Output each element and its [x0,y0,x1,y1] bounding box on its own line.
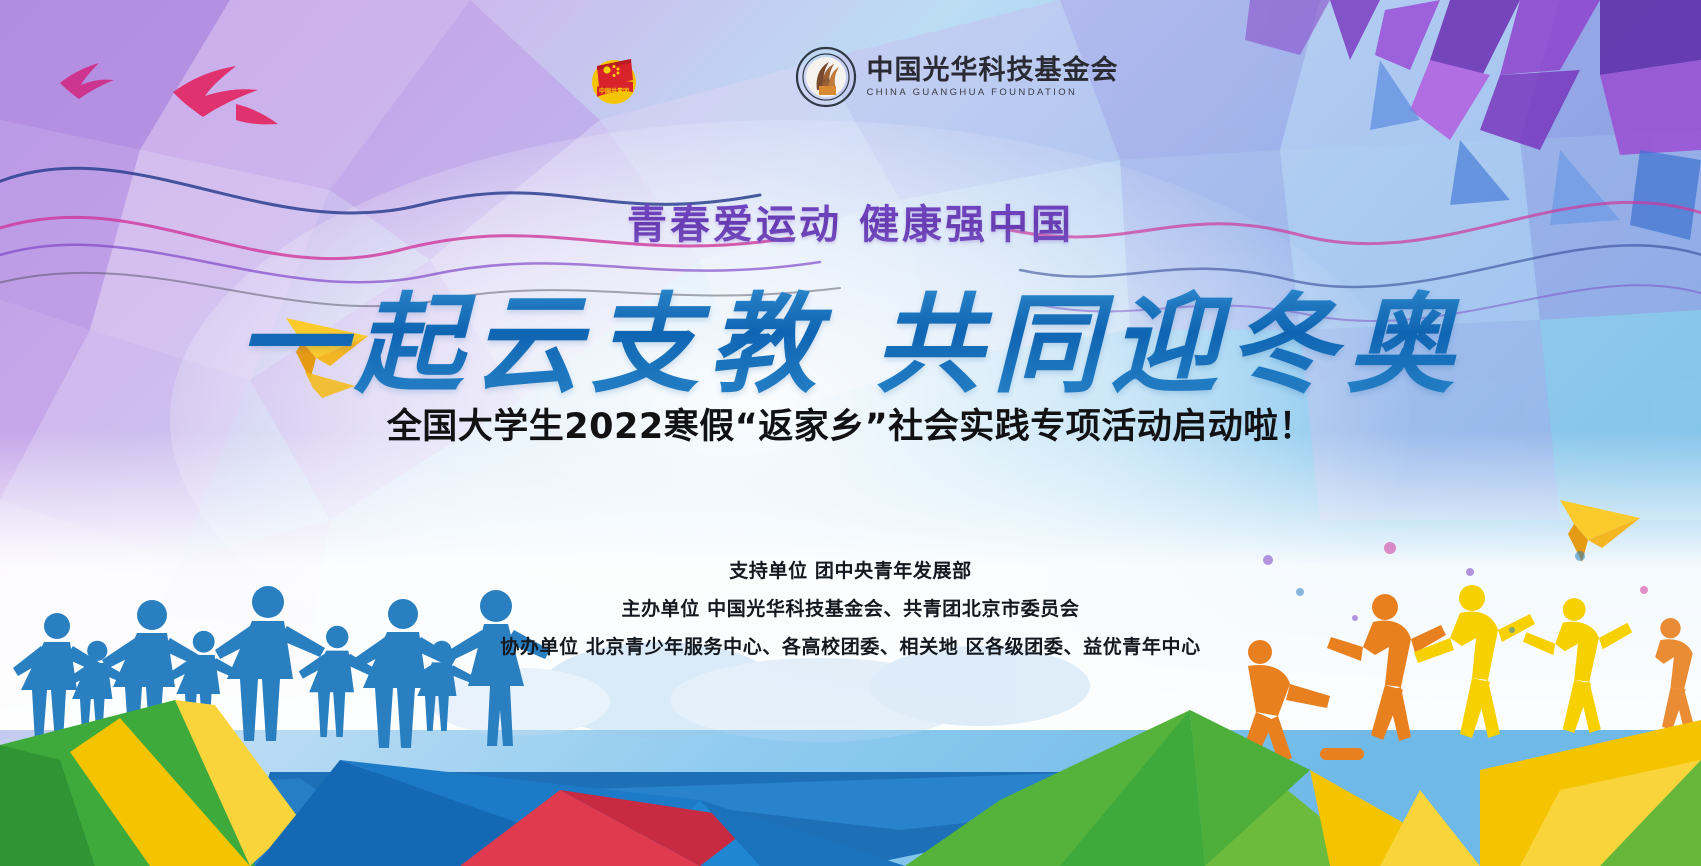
svg-text:中国共青团: 中国共青团 [598,87,628,95]
poster-canvas: 中国共青团 光华 中国光华科技基金会 CHINA GUANGHUA FOUNDA… [0,0,1701,866]
subtitle: 全国大学生2022寒假“返家乡”社会实践专项活动启动啦！ [0,398,1701,449]
credits-block: 支持单位 团中央青年发展部 主办单位 中国光华科技基金会、共青团北京市委员会 协… [0,552,1701,666]
foundation-name-en: CHINA GUANGHUA FOUNDATION [867,88,1119,98]
credit-line-coorganizer: 协办单位 北京青少年服务中心、各高校团委、相关地 区各级团委、益优青年中心 [0,628,1701,666]
foundation-name-cn: 中国光华科技基金会 [867,57,1119,84]
communist-youth-league-logo: 中国共青团 [583,46,645,108]
tagline: 青春爱运动 健康强中国 [0,192,1701,250]
main-title: 一起云支教 共同迎冬奥 [0,258,1701,414]
credit-line-organizer: 主办单位 中国光华科技基金会、共青团北京市委员会 [0,590,1701,628]
youth-league-flag-icon: 中国共青团 [583,46,645,108]
china-guanghua-foundation-logo: 光华 中国光华科技基金会 CHINA GUANGHUA FOUNDATION [795,46,1119,108]
guanghua-seal-icon: 光华 [795,46,857,108]
svg-text:光华: 光华 [822,77,830,83]
logo-row: 中国共青团 光华 中国光华科技基金会 CHINA GUANGHUA FOUNDA… [0,46,1701,108]
credit-line-support: 支持单位 团中央青年发展部 [0,552,1701,590]
foundation-name-block: 中国光华科技基金会 CHINA GUANGHUA FOUNDATION [867,57,1119,98]
